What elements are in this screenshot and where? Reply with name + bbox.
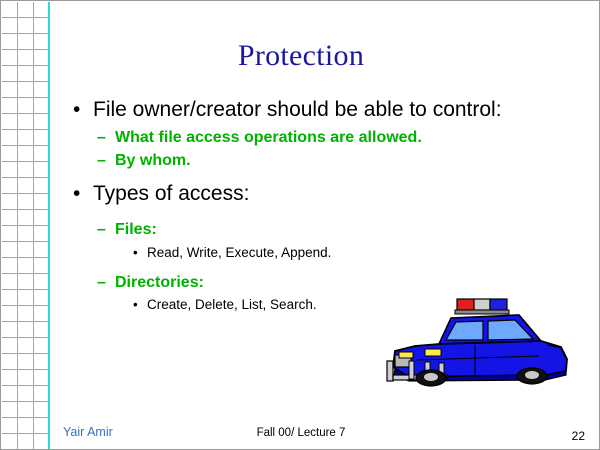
wheel-front [416,370,446,386]
footer-lecture-info: Fall 00/ Lecture 7 [1,427,600,439]
bullet-text: Types of access: [93,182,249,205]
bullet-level2: –By whom. [63,151,583,172]
bullet-text: Read, Write, Execute, Append. [147,245,331,260]
spacer [63,265,583,271]
slide-body: •File owner/creator should be able to co… [63,97,583,317]
bullet-marker: – [97,151,115,172]
bullet-text: File owner/creator should be able to con… [93,98,502,121]
slide: Protection •File owner/creator should be… [0,0,600,450]
bullet-text: What file access operations are allowed. [115,129,422,146]
bullet-marker: • [133,296,147,314]
footer-page-number: 22 [572,429,585,443]
bullet-marker: • [133,244,147,262]
bullet-level3: •Read, Write, Execute, Append. [63,244,583,262]
spacer [63,173,583,181]
bullet-marker: • [73,97,93,124]
bullet-text: Create, Delete, List, Search. [147,297,317,312]
bullet-marker: • [73,181,93,208]
bullet-text: Directories: [115,274,204,291]
bullet-level1: •Types of access: [63,181,583,208]
slide-title: Protection [1,39,600,73]
bullet-level2: –What file access operations are allowed… [63,128,583,149]
bullet-level2: –Files: [63,220,583,241]
bullet-marker: – [97,273,115,294]
bullet-marker: – [97,128,115,149]
bullet-marker: – [97,220,115,241]
police-car-illustration [369,289,581,399]
bullet-text: By whom. [115,152,191,169]
spacer [63,212,583,218]
wheel-rear [517,368,547,384]
bullet-level1: •File owner/creator should be able to co… [63,97,583,124]
bullet-text: Files: [115,221,157,238]
lightbar-icon [455,299,509,314]
